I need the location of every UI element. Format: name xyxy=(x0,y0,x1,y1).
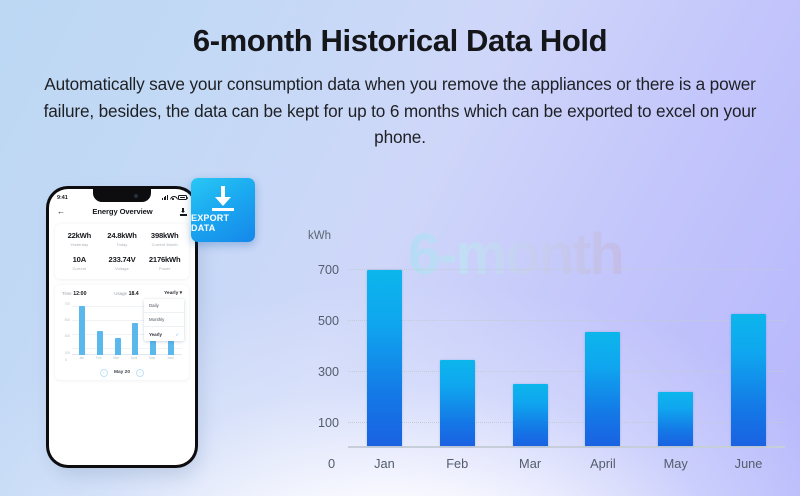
mini-ytick: 500 xyxy=(60,318,70,322)
x-axis-tick-label: Feb xyxy=(421,456,494,471)
meta-time-label: Time xyxy=(62,291,72,296)
status-icon-group xyxy=(162,195,187,200)
chart-bar[interactable] xyxy=(731,314,766,447)
x-axis-tick-label: Jan xyxy=(348,456,421,471)
x-axis-tick-label: April xyxy=(566,456,639,471)
mini-x-axis-tick-label: June xyxy=(167,356,174,362)
meta-usage-label: Usage xyxy=(114,291,127,296)
chart-bar[interactable] xyxy=(440,360,475,447)
stat-today: 24.8kWh Today xyxy=(101,231,144,247)
chart-x-axis-line xyxy=(348,446,785,448)
stat-yesterday: 22kWh Yesterday xyxy=(58,231,101,247)
stat-current-month: 398kWh Current Month xyxy=(143,231,186,247)
stat-value: 2176kWh xyxy=(143,255,186,264)
page-header: 6-month Historical Data Hold Automatical… xyxy=(0,0,800,151)
bar-slot xyxy=(494,254,567,446)
signal-icon xyxy=(162,195,168,200)
mini-zero-label: 0 xyxy=(65,358,67,362)
stat-power: 2176kWh Power xyxy=(143,255,186,271)
mini-x-axis-tick-label: May xyxy=(149,356,155,362)
y-axis-tick-label: 700 xyxy=(318,263,339,277)
stats-row: 10A Current 233.74V Voltage 2176kWh Powe… xyxy=(58,255,186,271)
stat-value: 24.8kWh xyxy=(101,231,144,240)
mini-chart-bar[interactable] xyxy=(79,306,85,354)
x-axis-tick-label: June xyxy=(712,456,785,471)
phone-frame: 9:41 ← Energy Overview 22kWh Yesterday xyxy=(46,186,198,468)
dropdown-item-daily[interactable]: Daily xyxy=(144,299,184,313)
export-data-label: EXPORT DATA xyxy=(191,213,255,233)
dropdown-item-monthly[interactable]: Monthly xyxy=(144,313,184,327)
meta-usage: Usage18.4 xyxy=(114,291,164,297)
meta-time: Time12:00 xyxy=(62,291,114,297)
mini-x-axis-tick-label: April xyxy=(131,356,137,362)
phone-chart-card: Time12:00 Usage18.4 Yearly ▾ Daily xyxy=(55,285,189,380)
stat-current: 10A Current xyxy=(58,255,101,271)
chevron-down-icon: ▾ xyxy=(180,291,182,296)
date-navigator: ‹ May 20 › xyxy=(60,369,184,377)
main-bar-chart: 6-month kWh 100300500700 0 JanFebMarApri… xyxy=(300,218,785,473)
chart-bars xyxy=(348,254,785,446)
back-button[interactable]: ← xyxy=(57,208,65,216)
stat-voltage: 233.74V Voltage xyxy=(101,255,144,271)
export-icon[interactable] xyxy=(180,208,187,216)
chart-bar[interactable] xyxy=(367,270,402,446)
mini-ytick: 100 xyxy=(60,351,70,355)
mini-x-axis: JanFebMarAprilMayJune xyxy=(73,356,180,362)
check-icon: ✓ xyxy=(176,332,179,337)
chart-plot-area: 100300500700 xyxy=(348,254,785,448)
phone-chart-meta: Time12:00 Usage18.4 Yearly ▾ xyxy=(60,291,184,297)
range-selected-label: Yearly xyxy=(164,291,178,296)
range-dropdown-toggle[interactable]: Yearly ▾ xyxy=(164,291,182,296)
stat-label: Today xyxy=(101,242,144,247)
phone-mockup: 9:41 ← Energy Overview 22kWh Yesterday xyxy=(46,186,206,476)
dropdown-item-label: Monthly xyxy=(149,317,164,322)
mini-chart-bar[interactable] xyxy=(132,323,138,354)
y-axis-tick-label: 300 xyxy=(318,365,339,379)
x-axis-tick-label: Mar xyxy=(494,456,567,471)
stat-label: Current xyxy=(58,266,101,271)
prev-date-button[interactable]: ‹ xyxy=(100,369,108,377)
mini-chart-bar[interactable] xyxy=(115,338,121,355)
mini-chart-bar[interactable] xyxy=(150,340,156,355)
chart-bar[interactable] xyxy=(658,392,693,447)
stat-value: 22kWh xyxy=(58,231,101,240)
stats-row: 22kWh Yesterday 24.8kWh Today 398kWh Cur… xyxy=(58,231,186,247)
y-axis-tick-label: 500 xyxy=(318,314,339,328)
bar-slot xyxy=(712,254,785,446)
y-axis-tick-label: 100 xyxy=(318,416,339,430)
phone-app-bar: ← Energy Overview xyxy=(49,204,195,221)
mini-x-axis-tick-label: Feb xyxy=(96,356,102,362)
export-data-button[interactable]: EXPORT DATA xyxy=(191,178,255,242)
wifi-icon xyxy=(170,195,176,200)
mini-y-axis: 700 500 300 100 xyxy=(60,302,72,355)
dropdown-item-label: Yearly xyxy=(149,332,162,337)
bar-slot xyxy=(639,254,712,446)
dropdown-item-yearly[interactable]: Yearly ✓ xyxy=(144,327,184,340)
chart-zero-label: 0 xyxy=(328,456,335,471)
mini-ytick: 300 xyxy=(60,334,70,338)
status-time: 9:41 xyxy=(57,195,68,201)
current-date-label: May 20 xyxy=(114,370,130,375)
meta-usage-value: 18.4 xyxy=(129,291,139,297)
stat-label: Current Month xyxy=(143,242,186,247)
stat-label: Voltage xyxy=(101,266,144,271)
mini-x-axis-tick-label: Jan xyxy=(79,356,84,362)
stat-value: 398kWh xyxy=(143,231,186,240)
dropdown-item-label: Daily xyxy=(149,303,159,308)
stat-label: Yesterday xyxy=(58,242,101,247)
stat-label: Power xyxy=(143,266,186,271)
stat-value: 233.74V xyxy=(101,255,144,264)
bar-slot xyxy=(566,254,639,446)
download-icon xyxy=(210,185,236,211)
battery-icon xyxy=(178,195,187,200)
bar-slot xyxy=(421,254,494,446)
range-dropdown-menu[interactable]: Daily Monthly Yearly ✓ xyxy=(144,299,184,341)
page-subtitle: Automatically save your consumption data… xyxy=(30,71,770,151)
phone-screen: 9:41 ← Energy Overview 22kWh Yesterday xyxy=(49,189,195,465)
mini-chart-bar[interactable] xyxy=(97,331,103,355)
stats-card: 22kWh Yesterday 24.8kWh Today 398kWh Cur… xyxy=(55,224,189,279)
mini-x-axis-tick-label: Mar xyxy=(113,356,119,362)
chart-x-axis-labels: JanFebMarAprilMayJune xyxy=(348,456,785,471)
bar-slot xyxy=(348,254,421,446)
meta-time-value: 12:00 xyxy=(73,291,86,297)
mini-ytick: 700 xyxy=(60,302,70,306)
stat-value: 10A xyxy=(58,255,101,264)
chart-bar[interactable] xyxy=(585,332,620,447)
phone-status-bar: 9:41 xyxy=(49,189,195,204)
next-date-button[interactable]: › xyxy=(136,369,144,377)
y-axis-unit-label: kWh xyxy=(308,230,331,242)
x-axis-tick-label: May xyxy=(639,456,712,471)
app-screen-title: Energy Overview xyxy=(92,207,152,216)
page-title: 6-month Historical Data Hold xyxy=(0,24,800,58)
chart-bar[interactable] xyxy=(513,384,548,447)
